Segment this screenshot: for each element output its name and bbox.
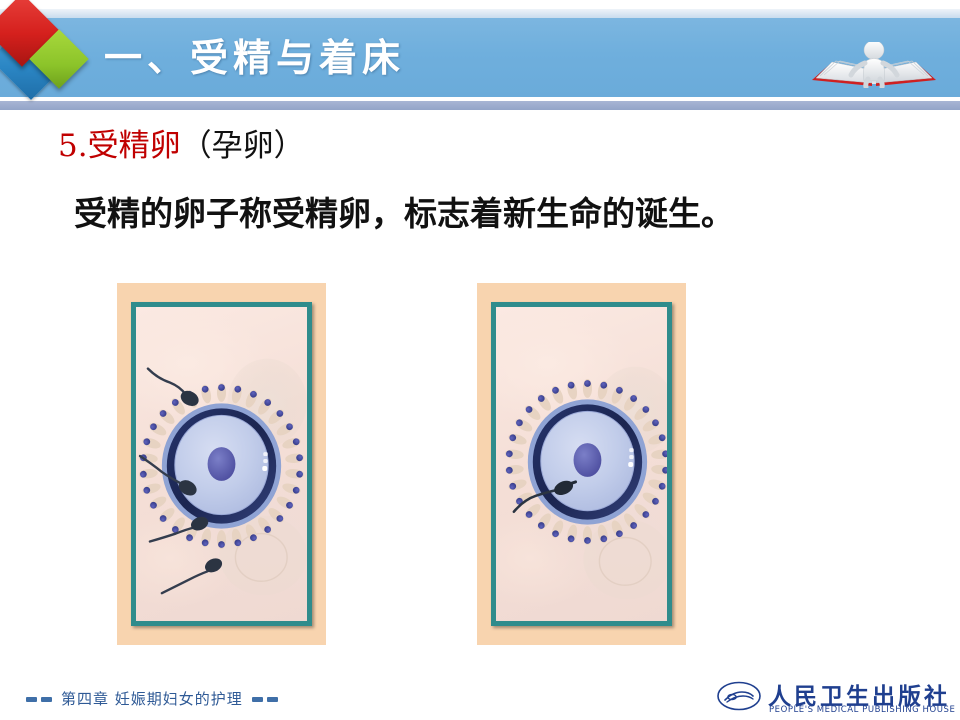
publisher-name-en: PEOPLE'S MEDICAL PUBLISHING HOUSE <box>769 705 955 715</box>
publisher-logo-group: 人民卫生出版社 PEOPLE'S MEDICAL PUBLISHING HOUS… <box>716 680 948 718</box>
figure-frame-left <box>131 302 312 626</box>
publisher-mark-icon <box>716 681 762 711</box>
subheading-parenthetical: （孕卵） <box>181 128 305 164</box>
subheading: 5.受精卵（孕卵） <box>58 124 305 168</box>
slide-header: 一、受精与着床 <box>0 0 960 112</box>
header-top-strip <box>0 0 960 9</box>
figure-frame-right <box>491 302 672 626</box>
person-on-book-icon <box>800 20 948 95</box>
header-divider-band <box>0 101 960 110</box>
footer-dash-right-2 <box>267 697 278 702</box>
sperm-penetrating-ovum-image <box>496 307 667 621</box>
footer-dash-left-1 <box>26 697 37 702</box>
header-light-band <box>0 9 960 18</box>
footer-chapter-label: 第四章 妊娠期妇女的护理 <box>61 690 243 708</box>
footer-chapter: 第四章 妊娠期妇女的护理 <box>24 688 280 710</box>
footer-dash-right-1 <box>252 697 263 702</box>
subheading-number: 5.受精卵 <box>58 128 181 164</box>
page-title: 一、受精与着床 <box>104 28 405 88</box>
figure-panel-left <box>117 283 326 645</box>
diamond-decoration-group <box>0 2 114 106</box>
body-sentence: 受精的卵子称受精卵，标志着新生命的诞生。 <box>74 190 734 238</box>
header-divider-white-2 <box>0 110 960 112</box>
sperm-approaching-ovum-image <box>136 307 307 621</box>
figure-panel-right <box>477 283 686 645</box>
footer-dash-left-2 <box>41 697 52 702</box>
